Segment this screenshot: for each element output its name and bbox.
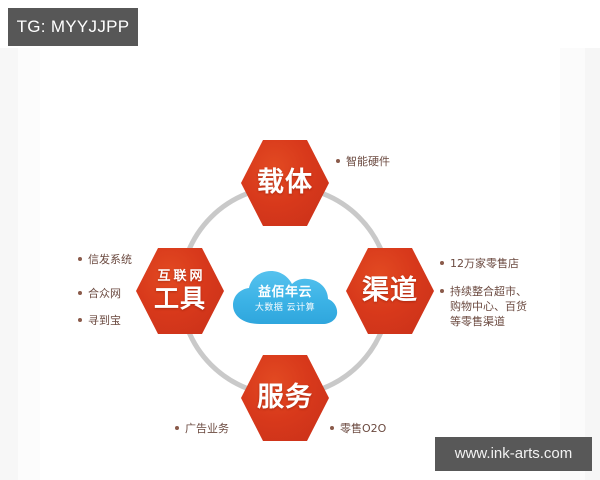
bullet-dot-icon	[78, 318, 82, 322]
label-integrate-retail-text: 持续整合超市、购物中心、百货等零售渠道	[450, 284, 532, 329]
label-xundaobao-text: 寻到宝	[88, 313, 121, 328]
label-smart-hardware-text: 智能硬件	[346, 154, 390, 169]
label-retail-o2o-text: 零售O2O	[340, 421, 386, 436]
hex-node-channel-title: 渠道	[362, 277, 418, 305]
label-hezhong-net: 合众网	[78, 286, 121, 301]
hex-node-internet-tools-eyebrow: 互联网	[154, 270, 205, 284]
label-retail-stores-text: 12万家零售店	[450, 256, 519, 271]
hex-node-carrier-title: 载体	[257, 169, 313, 197]
tg-watermark-badge: TG: MYYJJPP	[8, 8, 138, 46]
label-ad-business-text: 广告业务	[185, 421, 229, 436]
bullet-dot-icon	[440, 261, 444, 265]
center-cloud: 益佰年云 大数据 云计算	[230, 268, 340, 326]
screenshot-canvas: 益佰年云 大数据 云计算 载体 渠道 服务 互联网 工具 智能硬件 12万	[0, 0, 600, 480]
label-xundaobao: 寻到宝	[78, 313, 121, 328]
bullet-dot-icon	[330, 426, 334, 430]
bullet-dot-icon	[78, 291, 82, 295]
bullet-dot-icon	[175, 426, 179, 430]
bullet-dot-icon	[78, 257, 82, 261]
label-retail-o2o: 零售O2O	[330, 421, 386, 436]
bullet-dot-icon	[440, 289, 444, 293]
label-ad-business: 广告业务	[175, 421, 229, 436]
label-integrate-retail: 持续整合超市、购物中心、百货等零售渠道	[440, 284, 532, 329]
label-xinfa-system-text: 信发系统	[88, 252, 132, 267]
hex-node-service-title: 服务	[257, 384, 313, 412]
label-hezhong-net-text: 合众网	[88, 286, 121, 301]
label-retail-stores: 12万家零售店	[440, 256, 519, 271]
label-smart-hardware: 智能硬件	[336, 154, 390, 169]
site-watermark-badge: www.ink-arts.com	[435, 437, 592, 471]
diagram-image-area: 益佰年云 大数据 云计算 载体 渠道 服务 互联网 工具 智能硬件 12万	[0, 48, 600, 480]
hex-node-internet-tools-title: 工具	[154, 286, 206, 312]
bullet-dot-icon	[336, 159, 340, 163]
label-xinfa-system: 信发系统	[78, 252, 132, 267]
cloud-shape-icon	[230, 268, 340, 326]
